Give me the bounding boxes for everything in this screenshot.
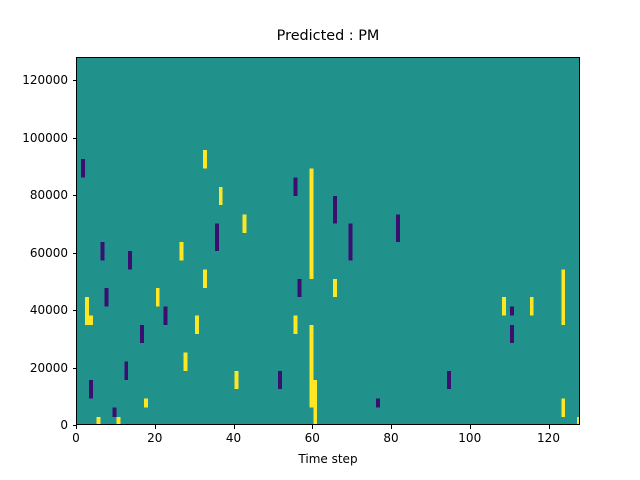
y-tick-mark [73,80,77,81]
y-tick-label: 100000 [0,131,68,145]
heatmap-axes [76,57,580,425]
heatmap-image [77,58,580,425]
y-tick-mark [73,425,77,426]
y-tick-mark [73,138,77,139]
matplotlib-figure: Predicted : PM 020406080100120 020000400… [0,0,640,480]
y-tick-label: 60000 [0,246,68,260]
x-axis-label: Time step [76,452,580,466]
y-tick-label: 0 [0,418,68,432]
y-tick-mark [73,368,77,369]
x-tick-label: 80 [361,431,421,445]
y-tick-label: 120000 [0,73,68,87]
x-tick-mark [234,425,235,429]
x-tick-label: 20 [125,431,185,445]
x-tick-label: 100 [440,431,500,445]
y-tick-label: 80000 [0,188,68,202]
x-tick-mark [549,425,550,429]
x-tick-mark [312,425,313,429]
y-tick-mark [73,310,77,311]
y-tick-mark [73,195,77,196]
x-tick-mark [470,425,471,429]
y-tick-mark [73,253,77,254]
x-tick-mark [155,425,156,429]
x-tick-label: 60 [282,431,342,445]
y-tick-label: 20000 [0,361,68,375]
chart-title: Predicted : PM [76,28,580,45]
y-tick-label: 40000 [0,303,68,317]
x-tick-label: 40 [204,431,264,445]
x-tick-label: 0 [46,431,106,445]
x-tick-mark [76,425,77,429]
x-tick-mark [391,425,392,429]
x-tick-label: 120 [519,431,579,445]
